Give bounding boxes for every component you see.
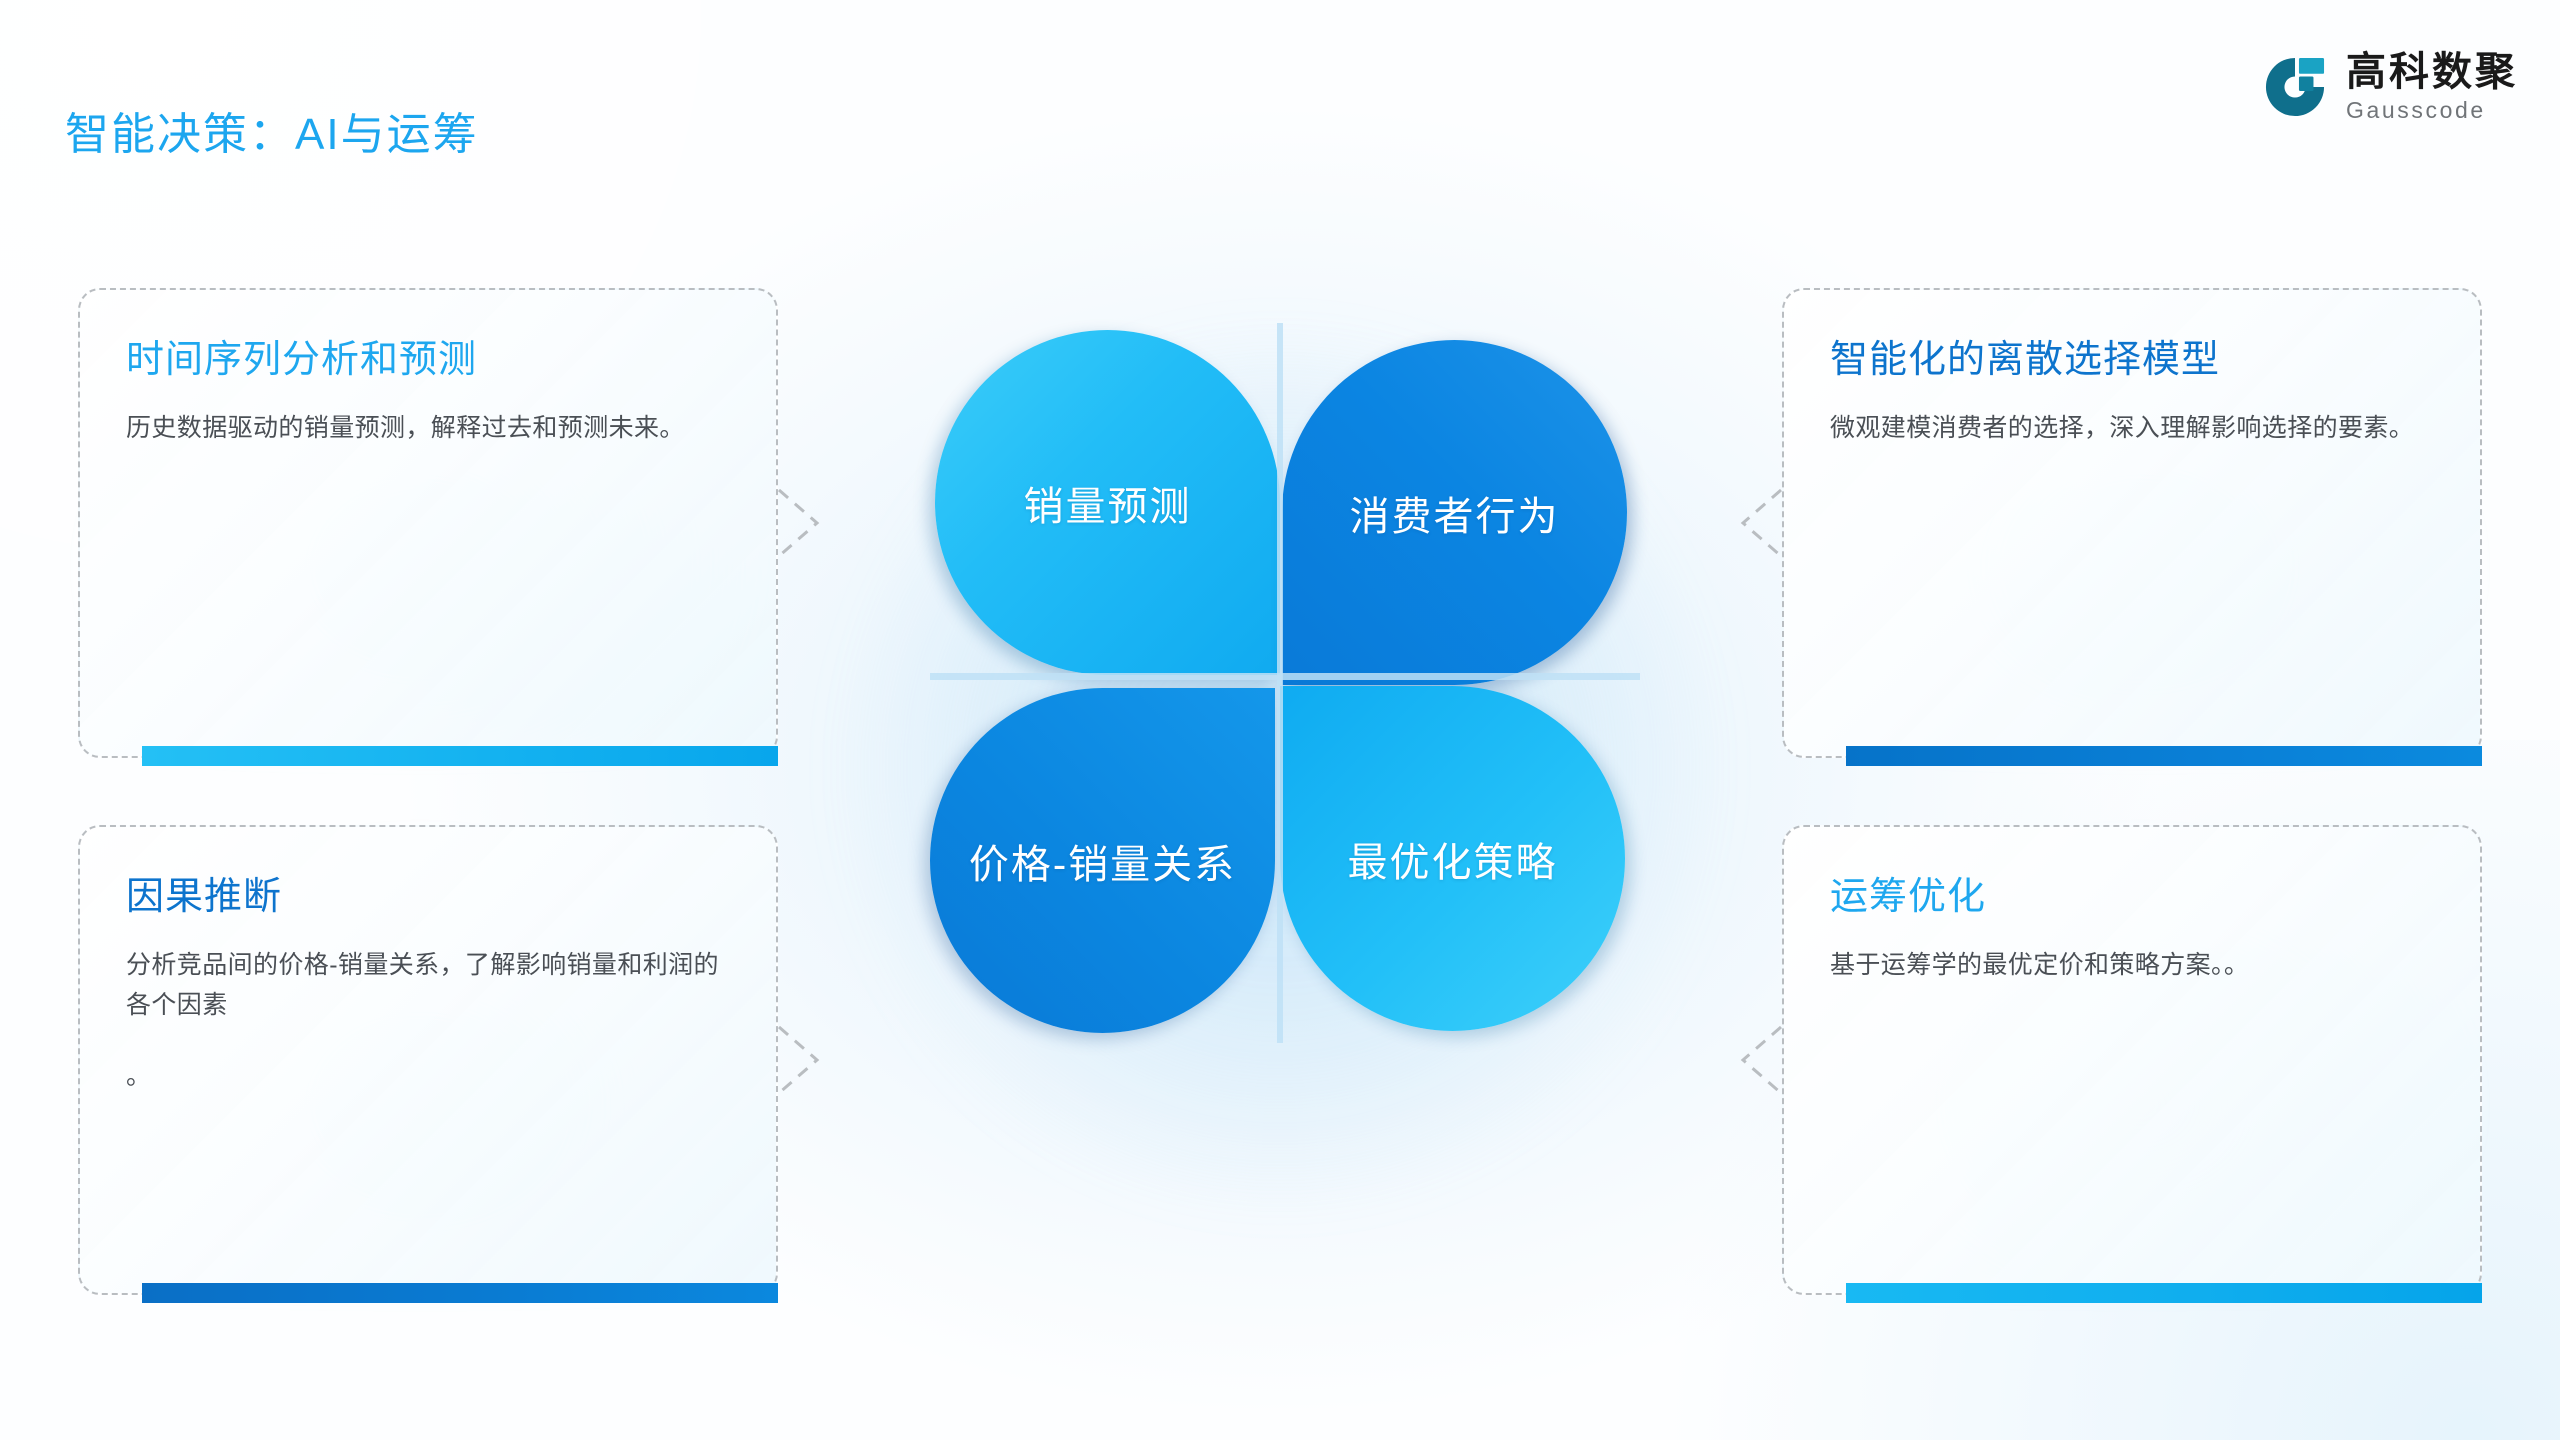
card-accent-bar [1846,1283,2482,1303]
card-operations-research[interactable]: 运筹优化 基于运筹学的最优定价和策略方案。。 [1782,825,2482,1295]
petal-label: 价格-销量关系 [969,832,1236,890]
card-body-main: 分析竞品间的价格-销量关系，了解影响销量和利润的各个因素 [126,951,719,1020]
brand-name-cn: 高科数聚 [2346,52,2518,92]
petal-label: 消费者行为 [1350,484,1560,542]
card-body: 基于运筹学的最优定价和策略方案。。 [1830,945,2430,986]
petal-price-sales-relation[interactable]: 价格-销量关系 [930,688,1275,1033]
brand-logo: 高科数聚 Gausscode [2262,52,2518,122]
card-body: 分析竞品间的价格-销量关系，了解影响销量和利润的各个因素。 [126,945,726,1097]
page-title: 智能决策：AI与运筹 [65,98,479,162]
clover-diagram: 销量预测 消费者行为 价格-销量关系 最优化策略 [790,268,1770,1268]
petal-consumer-behavior[interactable]: 消费者行为 [1282,340,1627,685]
card-accent-bar [142,1283,778,1303]
brand-logo-text: 高科数聚 Gausscode [2346,52,2518,122]
card-causal-inference[interactable]: 因果推断 分析竞品间的价格-销量关系，了解影响销量和利润的各个因素。 [78,825,778,1295]
card-time-series[interactable]: 时间序列分析和预测 历史数据驱动的销量预测，解释过去和预测未来。 [78,288,778,758]
card-content: 因果推断 分析竞品间的价格-销量关系，了解影响销量和利润的各个因素。 [80,827,776,1293]
gausscode-g-mark-icon [2262,54,2328,120]
petal-seam-vertical [1277,323,1283,1043]
card-accent-bar [1846,746,2482,766]
petal-optimal-strategy[interactable]: 最优化策略 [1280,686,1625,1031]
petal-seam-horizontal [930,673,1640,680]
card-body: 微观建模消费者的选择，深入理解影响选择的要素。 [1830,408,2430,449]
card-content: 运筹优化 基于运筹学的最优定价和策略方案。。 [1784,827,2480,1293]
card-discrete-choice[interactable]: 智能化的离散选择模型 微观建模消费者的选择，深入理解影响选择的要素。 [1782,288,2482,758]
card-title: 智能化的离散选择模型 [1830,340,2434,382]
petal-sales-forecast[interactable]: 销量预测 [935,330,1280,675]
card-content: 智能化的离散选择模型 微观建模消费者的选择，深入理解影响选择的要素。 [1784,290,2480,756]
card-title: 运筹优化 [1830,877,2434,919]
card-content: 时间序列分析和预测 历史数据驱动的销量预测，解释过去和预测未来。 [80,290,776,756]
card-body: 历史数据驱动的销量预测，解释过去和预测未来。 [126,408,726,449]
card-body-tail: 。 [126,1056,726,1097]
card-title: 时间序列分析和预测 [126,340,730,382]
brand-name-en: Gausscode [2346,99,2518,122]
petal-label: 最优化策略 [1348,830,1558,888]
petal-label: 销量预测 [1024,474,1192,532]
card-accent-bar [142,746,778,766]
card-title: 因果推断 [126,877,730,919]
slide-canvas: 智能决策：AI与运筹 高科数聚 Gausscode 销量预测 消费者行为 价格-… [0,0,2560,1440]
